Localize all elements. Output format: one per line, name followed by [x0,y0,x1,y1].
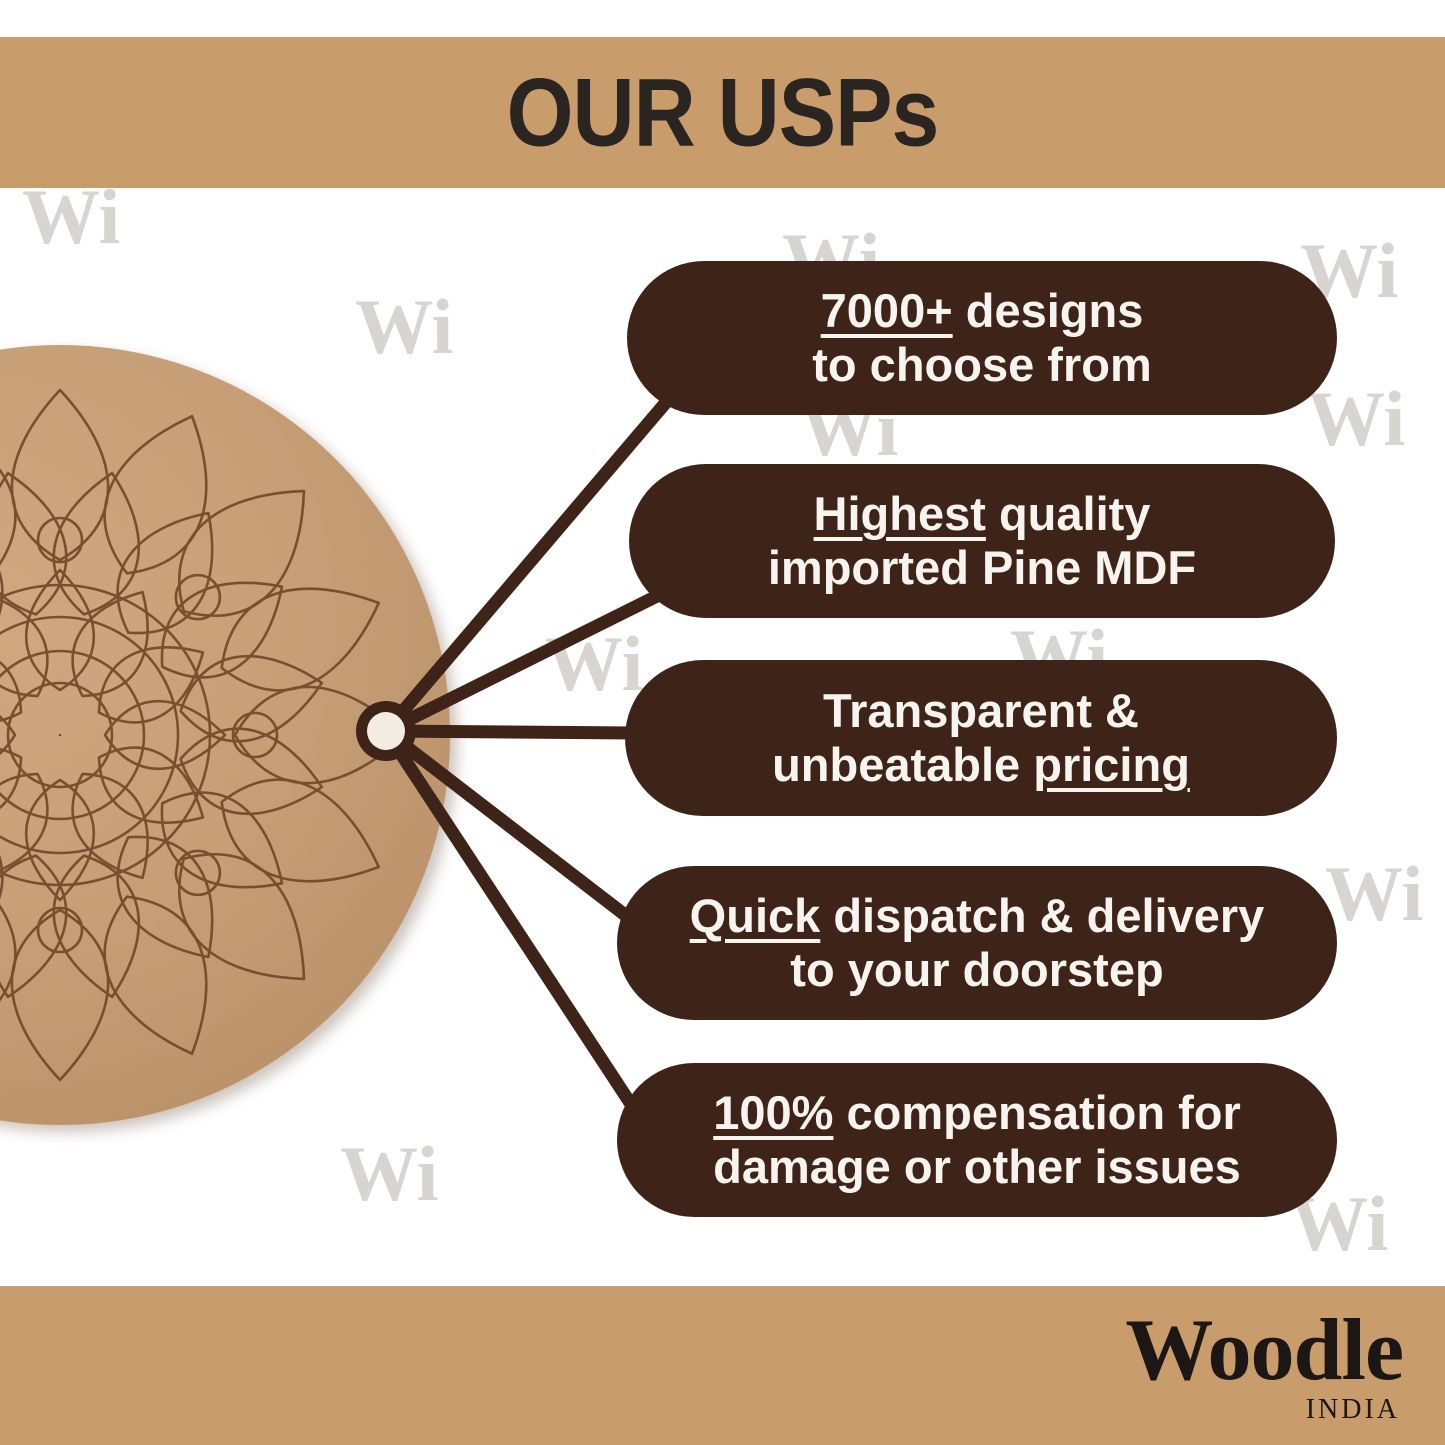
highlight-term: 7000+ [821,284,953,337]
page-title: OUR USPs [507,64,939,160]
usp-quality-line-2: imported Pine MDF [768,541,1196,595]
plain-term: damage or other issues [713,1140,1241,1193]
brand-logo: Woodle INDIA [1125,1311,1403,1426]
usp-dispatch-line-2: to your doorstep [790,943,1163,997]
usp-pill-list: 7000+ designsto choose fromHighest quali… [0,0,1445,1445]
usp-dispatch-line-1: Quick dispatch & delivery [690,889,1265,943]
usp-quality-line-1: Highest quality [814,487,1151,541]
usp-designs-line-2: to choose from [812,338,1151,392]
usp-pricing-line-2: unbeatable pricing [772,738,1190,792]
highlight-term: Quick [690,889,821,942]
usp-designs[interactable]: 7000+ designsto choose from [627,261,1337,415]
plain-term: to your doorstep [790,943,1163,996]
plain-term: imported Pine MDF [768,541,1196,594]
plain-term: to choose from [812,338,1151,391]
usp-compensation[interactable]: 100% compensation fordamage or other iss… [617,1063,1337,1217]
logo-wordmark: Woodle [1125,1311,1403,1392]
plain-term: designs [953,284,1144,337]
plain-term: quality [986,487,1151,540]
highlight-term: Highest [814,487,986,540]
poster-canvas: WiWiWiWiWiWiWiWiWiWiWi [0,0,1445,1445]
plain-term: compensation for [833,1086,1240,1139]
usp-pricing-line-1: Transparent & [823,684,1139,738]
header-band: OUR USPs [0,37,1445,188]
usp-compensation-line-1: 100% compensation for [713,1086,1241,1140]
usp-pricing[interactable]: Transparent &unbeatable pricing [625,660,1337,816]
plain-term: unbeatable [772,738,1033,791]
usp-designs-line-1: 7000+ designs [821,284,1144,338]
usp-compensation-line-2: damage or other issues [713,1140,1241,1194]
highlight-term: 100% [713,1086,833,1139]
usp-dispatch[interactable]: Quick dispatch & deliveryto your doorste… [617,866,1337,1020]
highlight-term: pricing [1033,738,1190,791]
usp-quality[interactable]: Highest qualityimported Pine MDF [629,464,1335,618]
plain-term: dispatch & delivery [820,889,1264,942]
plain-term: Transparent & [823,684,1139,737]
